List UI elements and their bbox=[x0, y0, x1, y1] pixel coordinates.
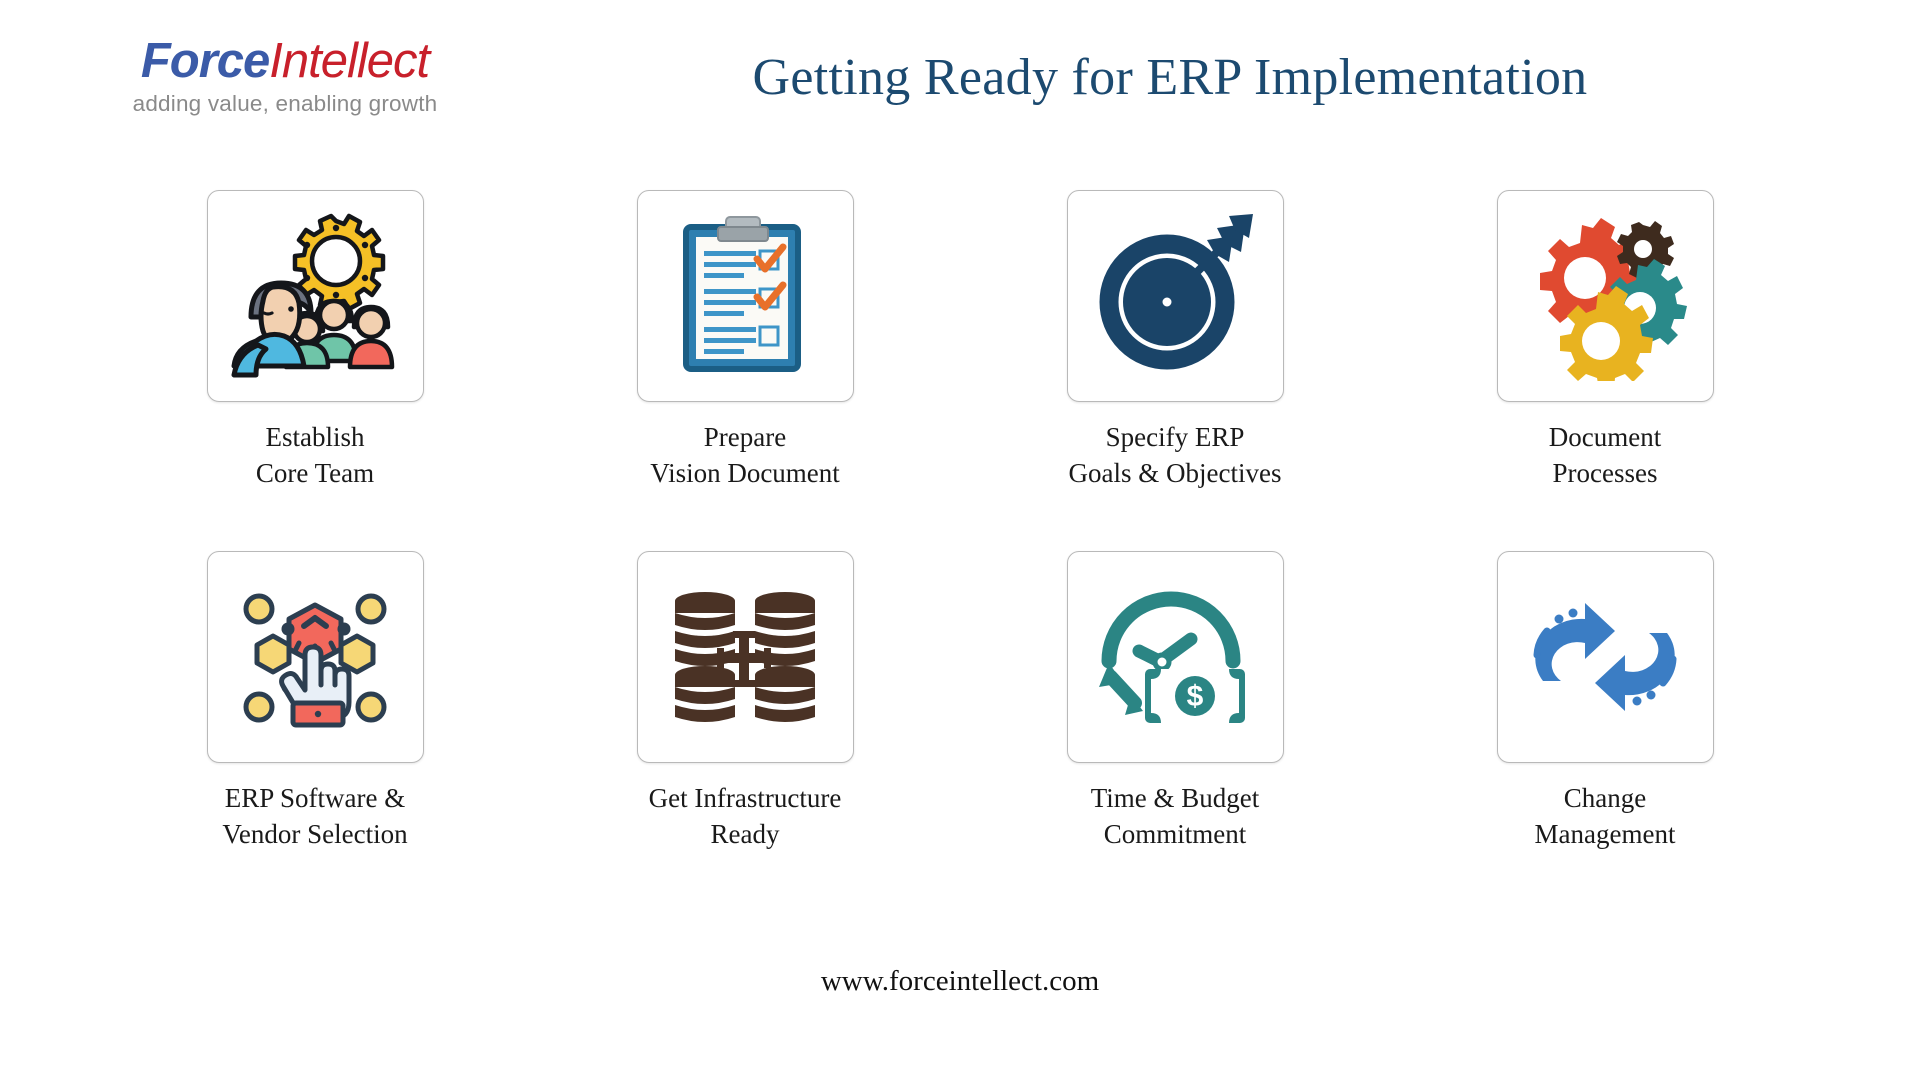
grid-cell-document-processes: Document Processes bbox=[1390, 190, 1820, 491]
logo-tagline: adding value, enabling growth bbox=[105, 91, 465, 117]
cell-label: ERP Software & Vendor Selection bbox=[222, 781, 407, 852]
grid-cell-specify-erp-goals: Specify ERP Goals & Objectives bbox=[960, 190, 1390, 491]
grid-cell-time-budget-commitment: $ Time & Budget Commitment bbox=[960, 551, 1390, 852]
svg-text:$: $ bbox=[1187, 680, 1204, 713]
team-gear-icon bbox=[228, 209, 403, 384]
icon-card-time-budget-commitment[interactable]: $ bbox=[1067, 551, 1284, 763]
cell-label: Establish Core Team bbox=[256, 420, 374, 491]
company-logo: ForceIntellect adding value, enabling gr… bbox=[105, 36, 465, 117]
icon-card-specify-erp-goals[interactable] bbox=[1067, 190, 1284, 402]
logo-word-intellect: Intellect bbox=[269, 34, 429, 88]
icon-card-erp-software-vendor-selection[interactable] bbox=[207, 551, 424, 763]
grid-cell-establish-core-team: Establish Core Team bbox=[100, 190, 530, 491]
clipboard-checklist-icon bbox=[658, 209, 833, 384]
cell-label: Prepare Vision Document bbox=[650, 420, 840, 491]
database-network-icon bbox=[661, 577, 829, 737]
time-budget-icon: $ bbox=[1091, 577, 1259, 737]
cell-label: Document Processes bbox=[1549, 420, 1661, 491]
grid-cell-erp-software-vendor-selection: ERP Software & Vendor Selection bbox=[100, 551, 530, 852]
grid-cell-prepare-vision-document: Prepare Vision Document bbox=[530, 190, 960, 491]
icon-card-get-infrastructure-ready[interactable] bbox=[637, 551, 854, 763]
change-sync-arrows-icon bbox=[1521, 577, 1689, 737]
cell-label: Specify ERP Goals & Objectives bbox=[1069, 420, 1282, 491]
logo-word-force: Force bbox=[141, 34, 269, 88]
icon-card-document-processes[interactable] bbox=[1497, 190, 1714, 402]
icon-card-prepare-vision-document[interactable] bbox=[637, 190, 854, 402]
gears-icon bbox=[1520, 211, 1690, 381]
grid-cell-change-management: Change Management bbox=[1390, 551, 1820, 852]
infographic-page: ForceIntellect adding value, enabling gr… bbox=[0, 0, 1920, 1080]
target-arrow-icon bbox=[1093, 214, 1258, 379]
cell-label: Get Infrastructure Ready bbox=[649, 781, 842, 852]
icon-card-establish-core-team[interactable] bbox=[207, 190, 424, 402]
cell-label: Time & Budget Commitment bbox=[1091, 781, 1260, 852]
hand-select-hexagon-icon bbox=[231, 573, 399, 741]
cell-label: Change Management bbox=[1535, 781, 1676, 852]
page-title: Getting Ready for ERP Implementation bbox=[560, 48, 1780, 107]
steps-grid: Establish Core Team bbox=[100, 190, 1820, 853]
grid-cell-get-infrastructure-ready: Get Infrastructure Ready bbox=[530, 551, 960, 852]
logo-wordmark: ForceIntellect bbox=[105, 36, 465, 87]
footer-website[interactable]: www.forceintellect.com bbox=[0, 965, 1920, 998]
icon-card-change-management[interactable] bbox=[1497, 551, 1714, 763]
header: ForceIntellect adding value, enabling gr… bbox=[0, 0, 1920, 160]
